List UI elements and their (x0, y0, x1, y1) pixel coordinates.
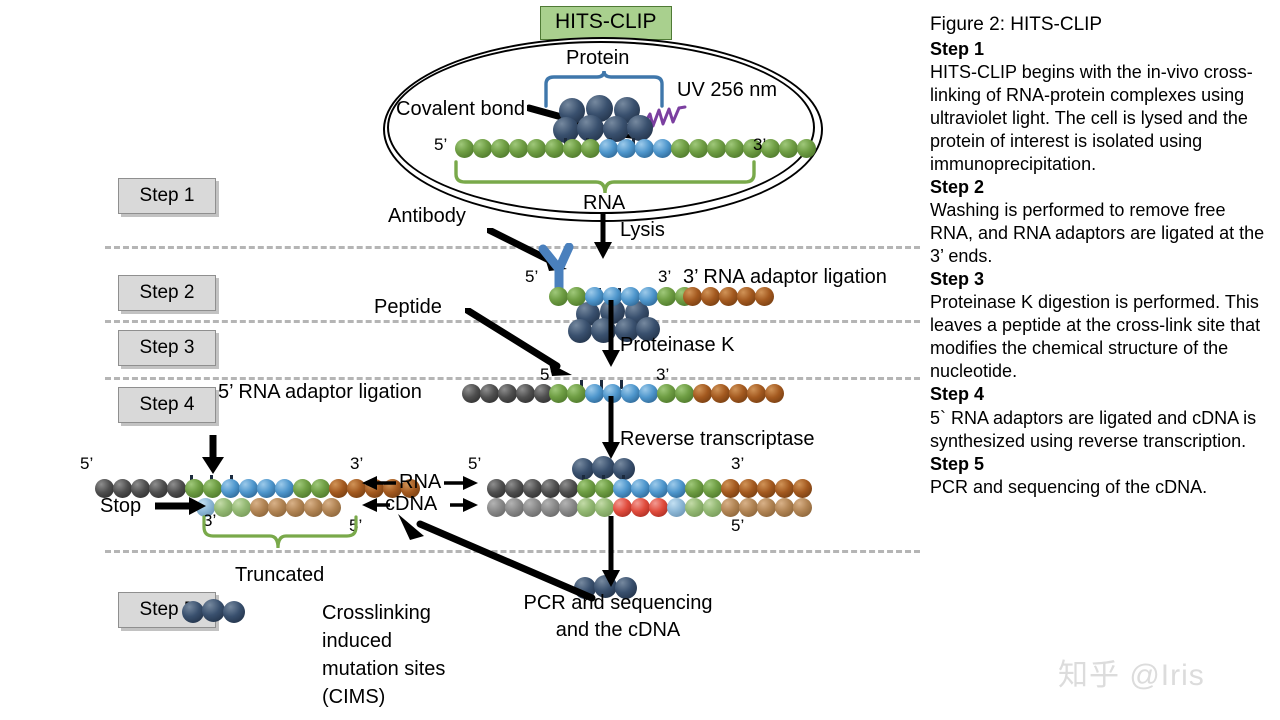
cims-line-4: (CIMS) (322, 687, 445, 708)
bead-green (563, 139, 582, 158)
proteinase-k-label: Proteinase K (620, 335, 735, 356)
lysis-label: Lysis (620, 220, 665, 241)
cell-rna-3prime: 3’ (753, 136, 766, 154)
cims-label: Crosslinking induced mutation sites (CIM… (322, 603, 445, 708)
bead-green-l (595, 498, 614, 517)
bead-red (631, 498, 650, 517)
bead-green (725, 139, 744, 158)
bead-green (707, 139, 726, 158)
bead-red (649, 498, 668, 517)
step-badge-2: Step 2 (118, 275, 216, 311)
bead-blue (613, 479, 632, 498)
bead-blue-l (667, 498, 686, 517)
bead-brown (747, 384, 766, 403)
cims-line-3: mutation sites (322, 659, 445, 680)
panel-step2-head: Step 2 (930, 176, 1270, 199)
covalent-bond-label: Covalent bond (396, 99, 525, 120)
bead-green (797, 139, 816, 158)
bead-green (657, 384, 676, 403)
bead-green (779, 139, 798, 158)
bead-red (613, 498, 632, 517)
bead-green (703, 479, 722, 498)
panel-figure-title: Figure 2: HITS-CLIP (930, 14, 1270, 36)
bead-gray (541, 479, 560, 498)
panel-step1-head: Step 1 (930, 38, 1270, 61)
full-duplex-5prime-bottom: 5’ (731, 517, 744, 535)
bead-brown (775, 479, 794, 498)
bead-green (657, 287, 676, 306)
bead-green (689, 139, 708, 158)
panel-step4-body: 5` RNA adaptors are ligated and cDNA is … (930, 407, 1270, 453)
truncated-label: Truncated (235, 565, 324, 586)
bead-green-l (685, 498, 704, 517)
bead-blue (639, 287, 658, 306)
stop-arrow-down (200, 435, 226, 475)
bead-blue (257, 479, 276, 498)
step-badge-1: Step 1 (118, 178, 216, 214)
bead-green (473, 139, 492, 158)
pcr-arrow (600, 516, 624, 588)
panel-step5-head: Step 5 (930, 453, 1270, 476)
bead-green (567, 287, 586, 306)
bead-brown (755, 287, 774, 306)
bead-brown-l (757, 498, 776, 517)
bead-gray (462, 384, 481, 403)
bead-green (509, 139, 528, 158)
bead-green (577, 479, 596, 498)
cell-rna-label: RNA (583, 193, 625, 214)
bead-brown (711, 384, 730, 403)
bead-brown (739, 479, 758, 498)
uv-label: UV 256 nm (677, 80, 777, 101)
five-prime-adaptor-ligation-label: 5’ RNA adaptor ligation (218, 382, 422, 403)
three-prime-adaptor-ligation-label: 3’ RNA adaptor ligation (683, 267, 887, 288)
bead-gray (505, 479, 524, 498)
bead-blue (239, 479, 258, 498)
bead-green (567, 384, 586, 403)
bead-blue (635, 139, 654, 158)
bead-gray (523, 479, 542, 498)
truncated-5prime-top: 5’ (80, 455, 93, 473)
panel-step2-body: Washing is performed to remove free RNA,… (930, 199, 1270, 268)
figure-title-chip: HITS-CLIP (540, 6, 672, 40)
bead-brown-l (721, 498, 740, 517)
bead-brown-l (739, 498, 758, 517)
bead-brown (729, 384, 748, 403)
bead-blue (667, 479, 686, 498)
bead-brown (765, 384, 784, 403)
bead-blue (221, 479, 240, 498)
bead-gray (498, 384, 517, 403)
bead-green (455, 139, 474, 158)
bead-green (675, 384, 694, 403)
full-duplex-3prime-top: 3’ (731, 455, 744, 473)
bead-brown (737, 287, 756, 306)
bead-brown (719, 287, 738, 306)
truncated-brace (200, 515, 360, 561)
bead-gray (480, 384, 499, 403)
bead-blue (653, 139, 672, 158)
antibody-label: Antibody (388, 206, 466, 227)
step3-5prime: 5’ (540, 366, 553, 384)
bead-brown (757, 479, 776, 498)
step3-rna-strand (549, 384, 783, 403)
bead-green (549, 287, 568, 306)
pcr-label: PCR and sequencing and the cDNA (513, 593, 723, 641)
bead-green (581, 139, 600, 158)
step3-free-5prime-adaptor (462, 384, 552, 403)
peptide-label: Peptide (374, 297, 442, 318)
truncated-3prime-top: 3’ (350, 455, 363, 473)
bead-green (685, 479, 704, 498)
bead-brown (793, 479, 812, 498)
full-duplex-5prime-top: 5’ (468, 455, 481, 473)
bead-blue (639, 384, 658, 403)
protein-label: Protein (566, 48, 629, 69)
cims-pointer (396, 512, 596, 602)
bead-green (671, 139, 690, 158)
bead-green-l (703, 498, 722, 517)
cims-line-2: induced (322, 631, 445, 652)
bead-blue (617, 139, 636, 158)
bead-brown (701, 287, 720, 306)
bead-gray (487, 479, 506, 498)
step3-3prime: 3’ (656, 366, 669, 384)
panel-step3-head: Step 3 (930, 268, 1270, 291)
rna-compare-label: RNA (399, 472, 441, 493)
bead-blue (649, 479, 668, 498)
bead-blue (599, 139, 618, 158)
bead-brown (693, 384, 712, 403)
bead-green (549, 384, 568, 403)
description-panel: Figure 2: HITS-CLIP Step 1 HITS-CLIP beg… (930, 14, 1270, 499)
step-badge-4: Step 4 (118, 387, 216, 423)
bead-gray (516, 384, 535, 403)
peptide-pointer (465, 308, 575, 378)
bead-brown (329, 479, 348, 498)
cims-line-1: Crosslinking (322, 603, 445, 624)
step2-free-3prime-adaptor (683, 287, 773, 306)
bead-brown-l (793, 498, 812, 517)
bead-brown-l (775, 498, 794, 517)
bead-green (527, 139, 546, 158)
bead-green (545, 139, 564, 158)
bead-brown (721, 479, 740, 498)
bead-gray (559, 479, 578, 498)
stop-label: Stop (100, 496, 141, 517)
bead-brown (683, 287, 702, 306)
full-rna-strand (487, 479, 811, 498)
step-badge-3: Step 3 (118, 330, 216, 366)
bead-green (595, 479, 614, 498)
protein-cluster-cell (553, 93, 659, 143)
watermark: 知乎 @Iris (1058, 650, 1205, 694)
panel-step5-body: PCR and sequencing of the cDNA. (930, 476, 1270, 499)
step2-5prime: 5’ (525, 268, 538, 286)
pcr-line-2: and the cDNA (513, 620, 723, 641)
panel-step4-head: Step 4 (930, 383, 1270, 406)
pcr-line-1: PCR and sequencing (513, 593, 723, 614)
bead-green (491, 139, 510, 158)
cell-rna-5prime: 5’ (434, 136, 447, 154)
peptide-cluster-truncated (182, 599, 246, 623)
bead-blue (275, 479, 294, 498)
bead-green (293, 479, 312, 498)
panel-step3-body: Proteinase K digestion is performed. Thi… (930, 291, 1270, 383)
panel-step1-body: HITS-CLIP begins with the in-vivo cross-… (930, 61, 1270, 176)
bead-green (311, 479, 330, 498)
reverse-transcriptase-label: Reverse transcriptase (620, 429, 815, 450)
bead-blue (631, 479, 650, 498)
lysis-arrow (592, 214, 616, 260)
step2-3prime: 3’ (658, 268, 671, 286)
